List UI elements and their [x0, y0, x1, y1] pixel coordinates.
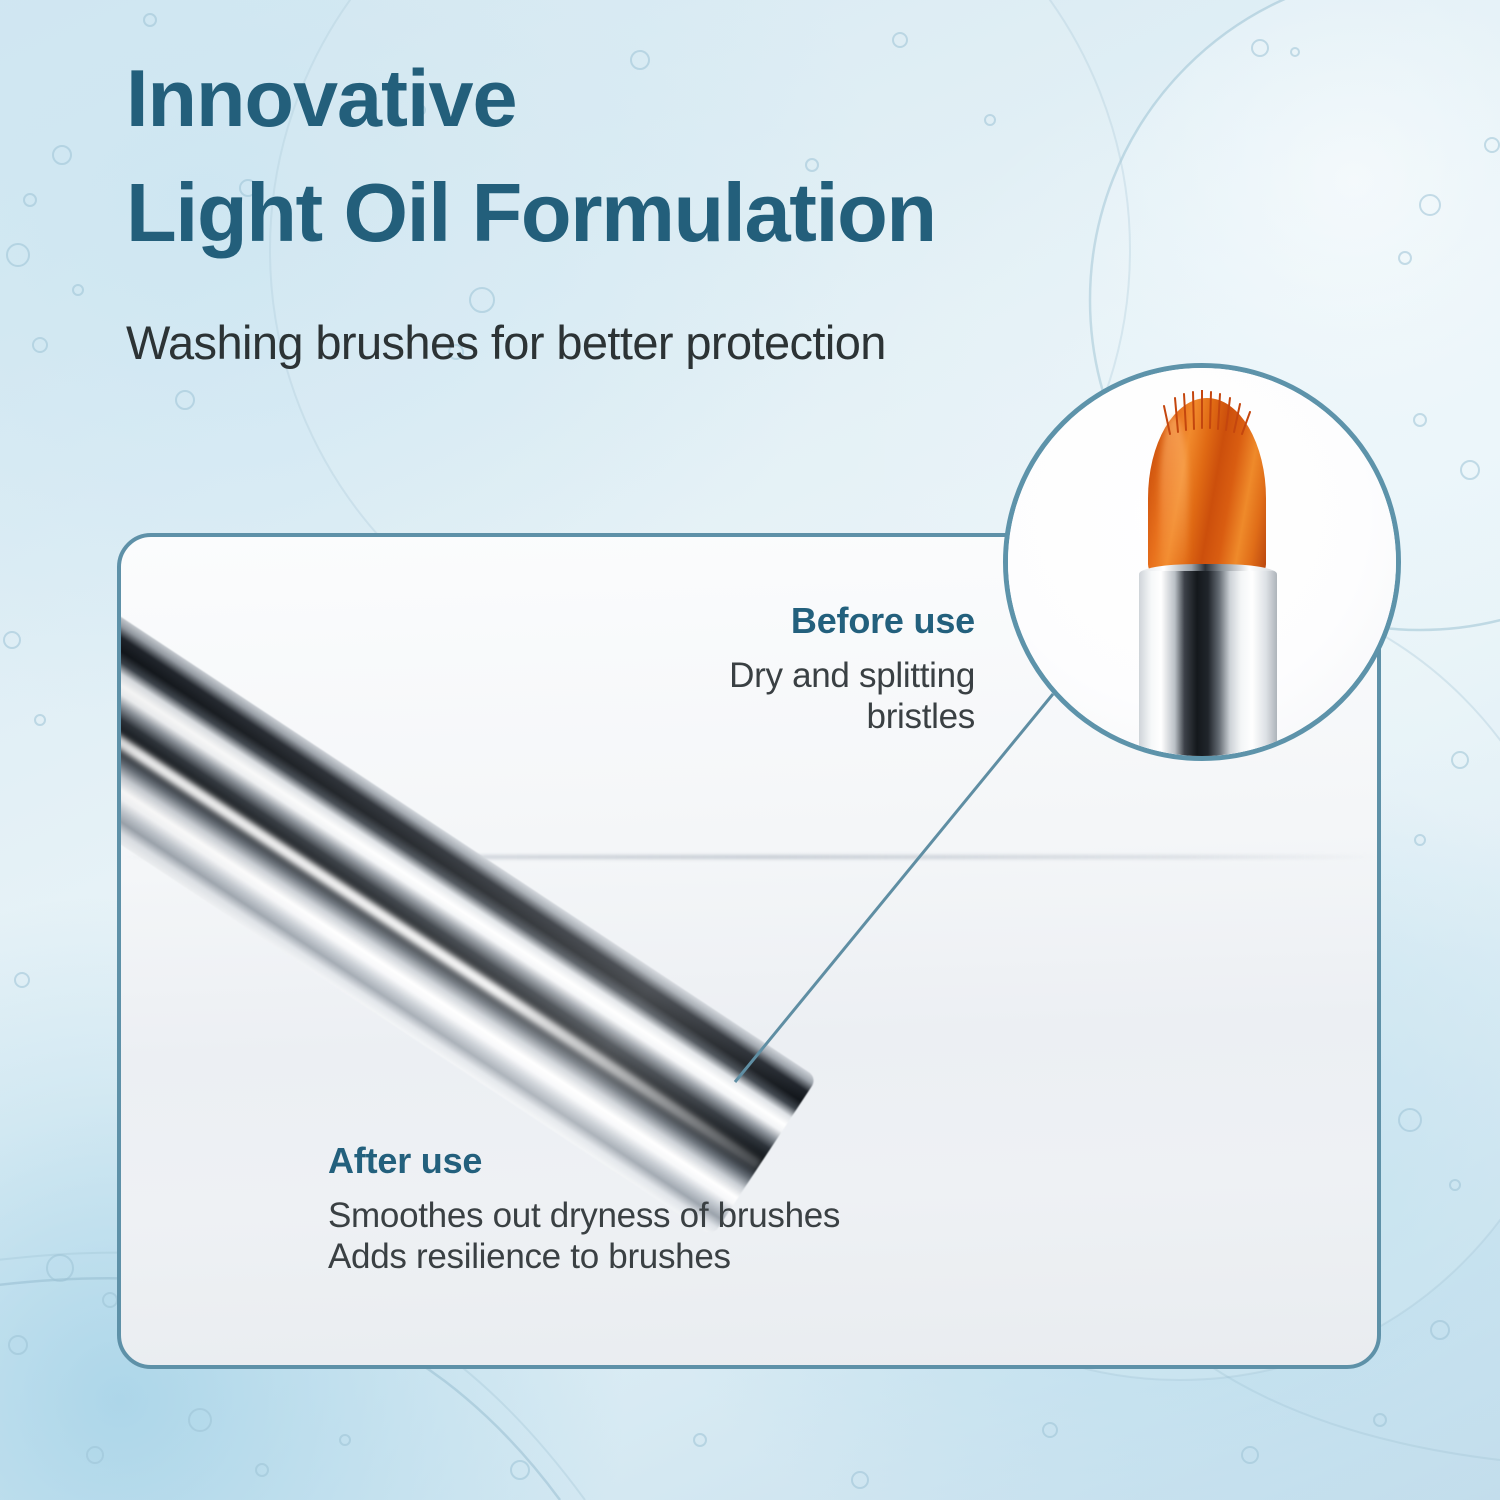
callout-before-body: Dry and splitting bristles [595, 655, 975, 738]
inset-ferrule [1139, 571, 1277, 761]
headline-line-2: Light Oil Formulation [118, 171, 944, 260]
callout-after-body: Smoothes out dryness of brushes Adds res… [328, 1195, 1028, 1278]
callout-before-title: Before use [595, 600, 975, 642]
callout-before-use: Before use Dry and splitting bristles [595, 600, 975, 738]
headline-line-1: Innovative [118, 58, 525, 145]
callout-before-line-2: bristles [595, 696, 975, 737]
subtitle: Washing brushes for better protection [126, 315, 886, 371]
infographic-poster: Innovative Light Oil Formulation Washing… [0, 0, 1500, 1500]
callout-after-line-1: Smoothes out dryness of brushes [328, 1195, 1028, 1236]
magnifier-circle-inset [1003, 363, 1401, 761]
callout-before-line-1: Dry and splitting [595, 655, 975, 696]
inset-split-bristles [1148, 390, 1268, 436]
inset-bristle-highlight [1160, 416, 1188, 566]
callout-after-title: After use [328, 1140, 1028, 1182]
callout-after-line-2: Adds resilience to brushes [328, 1236, 1028, 1277]
headline-block: Innovative Light Oil Formulation [118, 58, 1238, 285]
callout-after-use: After use Smoothes out dryness of brushe… [328, 1140, 1028, 1278]
